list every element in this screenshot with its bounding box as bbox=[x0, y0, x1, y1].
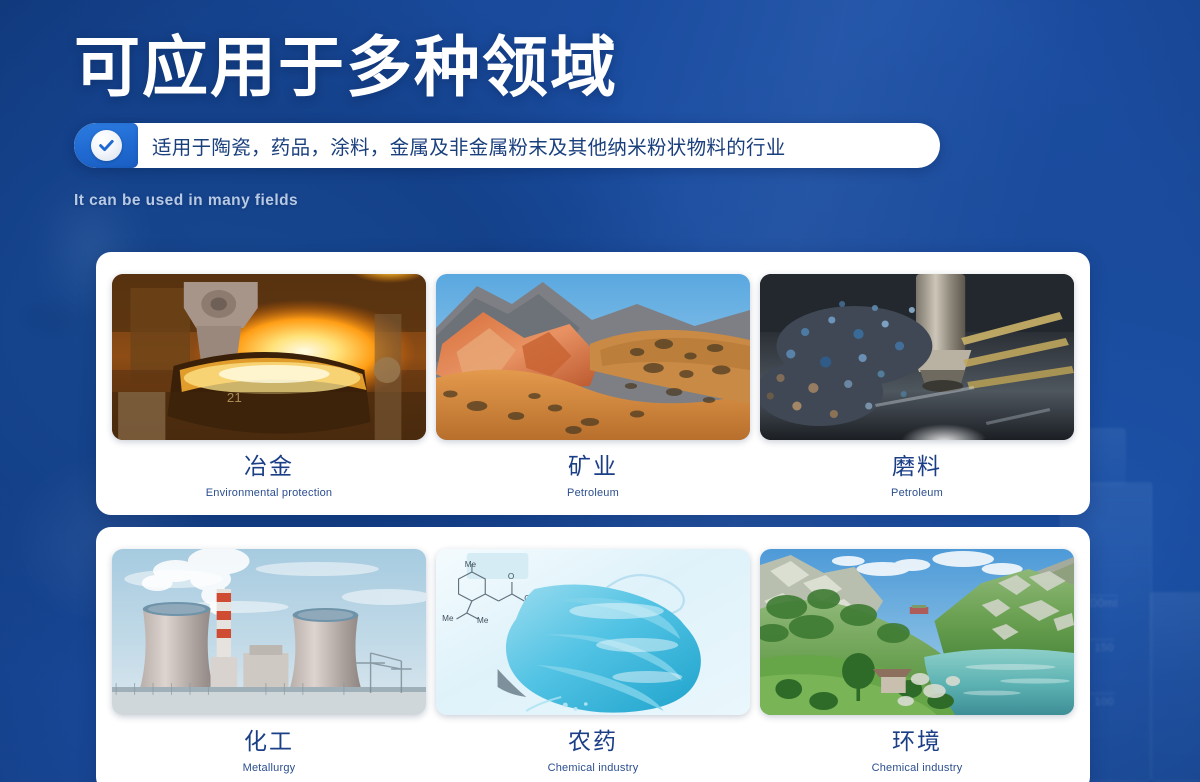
svg-text:O: O bbox=[508, 572, 514, 581]
field-card-metallurgy[interactable]: 21 冶金 Environmental protection bbox=[112, 274, 426, 499]
field-card-mining[interactable]: 矿业 Petroleum bbox=[436, 274, 750, 499]
card-title: 磨料 bbox=[892, 455, 942, 478]
svg-text:Me: Me bbox=[465, 560, 477, 569]
field-card-pesticide[interactable]: Me Me Me O OH bbox=[436, 549, 750, 774]
card-subtitle: Chemical industry bbox=[548, 762, 639, 774]
check-circle-icon bbox=[91, 130, 122, 161]
field-card-chemical[interactable]: 化工 Metallurgy bbox=[112, 549, 426, 774]
tagline-text: 适用于陶瓷，药品，涂料，金属及非金属粉末及其他纳米粉状物料的行业 bbox=[138, 123, 940, 168]
svg-text:Me: Me bbox=[477, 616, 489, 625]
card-title: 农药 bbox=[568, 730, 618, 753]
cooling-towers-plant-photo bbox=[112, 549, 426, 715]
check-badge bbox=[74, 123, 138, 168]
application-field-panels: 21 冶金 Environmental protection bbox=[96, 252, 1090, 782]
green-valley-lake-photo bbox=[760, 549, 1074, 715]
card-subtitle: Metallurgy bbox=[243, 762, 296, 774]
english-subtitle: It can be used in many fields bbox=[74, 192, 940, 210]
card-panel-row-1: 21 冶金 Environmental protection bbox=[96, 252, 1090, 515]
tagline-banner: 适用于陶瓷，药品，涂料，金属及非金属粉末及其他纳米粉状物料的行业 bbox=[74, 123, 940, 168]
card-title: 环境 bbox=[892, 730, 942, 753]
field-card-abrasive[interactable]: 磨料 Petroleum bbox=[760, 274, 1074, 499]
card-panel-row-2: 化工 Metallurgy bbox=[96, 527, 1090, 782]
metal-machining-chips-photo bbox=[760, 274, 1074, 440]
field-card-environment[interactable]: 环境 Chemical industry bbox=[760, 549, 1074, 774]
svg-text:Me: Me bbox=[442, 614, 454, 623]
card-title: 冶金 bbox=[244, 455, 294, 478]
gloved-hand-lab-photo: Me Me Me O OH bbox=[436, 549, 750, 715]
card-subtitle: Petroleum bbox=[567, 487, 619, 499]
card-title: 矿业 bbox=[568, 455, 618, 478]
card-subtitle: Environmental protection bbox=[206, 487, 332, 499]
header: 可应用于多种领域 适用于陶瓷，药品，涂料，金属及非金属粉末及其他纳米粉状物料的行… bbox=[74, 34, 940, 210]
molten-metal-foundry-photo: 21 bbox=[112, 274, 426, 440]
page-title: 可应用于多种领域 bbox=[74, 34, 940, 103]
card-subtitle: Chemical industry bbox=[872, 762, 963, 774]
card-title: 化工 bbox=[244, 730, 294, 753]
card-subtitle: Petroleum bbox=[891, 487, 943, 499]
svg-text:21: 21 bbox=[227, 390, 242, 405]
desert-mountain-mine-photo bbox=[436, 274, 750, 440]
